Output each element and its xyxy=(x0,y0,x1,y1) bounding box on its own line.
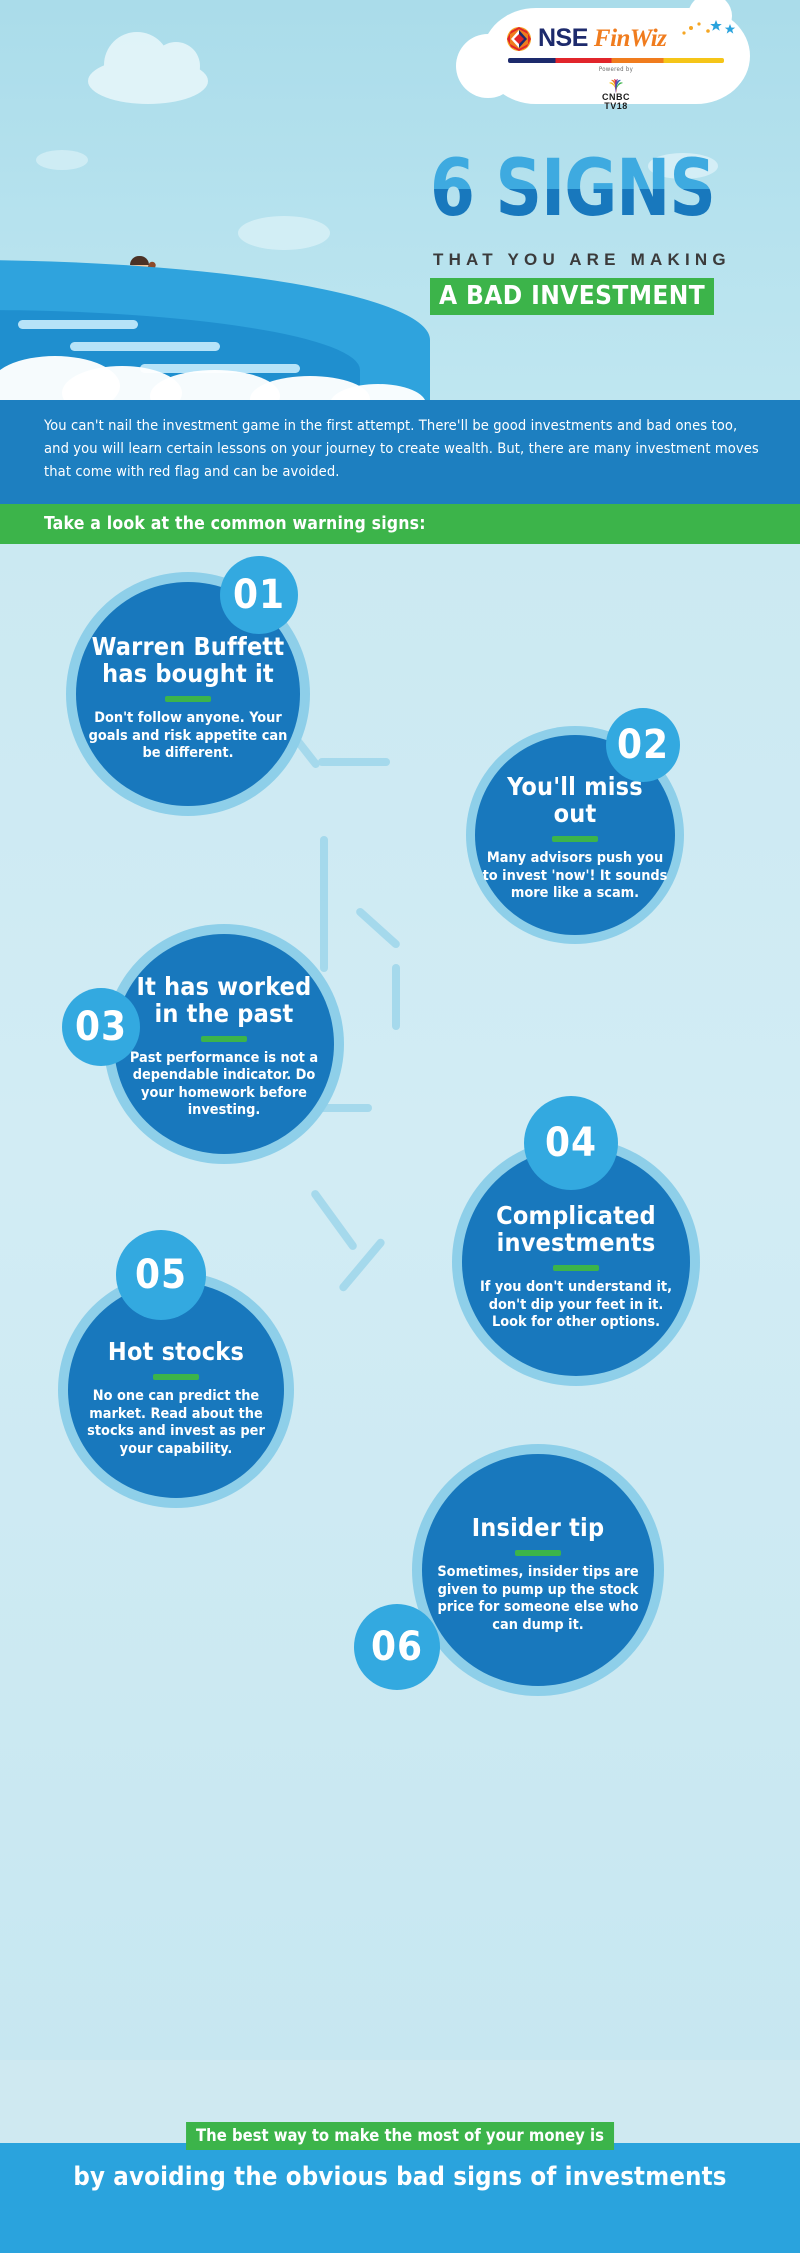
sign-content: Complicated investments If you don't und… xyxy=(472,1174,680,1360)
rower-hair xyxy=(130,256,149,265)
sign-badge-2: 02 xyxy=(606,708,680,782)
sign-body: Sometimes, insider tips are given to pum… xyxy=(434,1564,642,1634)
sign-title: Hot stocks xyxy=(108,1338,244,1365)
connector-line xyxy=(318,758,390,766)
sign-node-1[interactable]: Warren Buffett has bought it Don't follo… xyxy=(66,572,310,816)
boat-wave-illustration: ₹ xyxy=(0,170,430,400)
tv18-label: TV18 xyxy=(482,102,750,111)
sign-body: If you don't understand it, don't dip yo… xyxy=(472,1279,680,1332)
page-title: 6 SIGNS 6 SIGNS xyxy=(430,150,790,242)
logo-bubble: NSE FinWiz Powered by xyxy=(482,8,750,104)
connector-line xyxy=(392,964,400,1030)
sign-title: Insider tip xyxy=(472,1514,605,1541)
nse-flower-icon xyxy=(506,26,532,52)
intro-paragraph: You can't nail the investment game in th… xyxy=(44,414,760,483)
logo-color-rule xyxy=(508,58,724,63)
cloud-icon xyxy=(88,58,208,104)
sign-node-4[interactable]: Complicated investments If you don't und… xyxy=(452,1138,700,1386)
sign-node-3[interactable]: It has worked in the past Past performan… xyxy=(104,924,344,1164)
sign-title: Warren Buffett has bought it xyxy=(84,633,292,687)
sign-content: It has worked in the past Past performan… xyxy=(124,950,324,1142)
wave-foam-line xyxy=(70,342,220,351)
connector-line xyxy=(338,1237,387,1293)
sign-title: It has worked in the past xyxy=(124,973,324,1027)
sign-body: Don't follow anyone. Your goals and risk… xyxy=(84,710,292,763)
cnbc-tv18-logo: CNBC TV18 xyxy=(482,74,750,111)
footer-main-text: by avoiding the obvious bad signs of inv… xyxy=(0,2162,800,2192)
sign-number: 06 xyxy=(371,1627,423,1667)
logo-nse-text: NSE xyxy=(538,24,588,53)
sign-body: Many advisors push you to invest 'now'! … xyxy=(482,850,668,903)
footer-highlight: The best way to make the most of your mo… xyxy=(186,2122,614,2150)
sign-divider xyxy=(201,1036,247,1042)
sign-badge-5: 05 xyxy=(116,1230,206,1320)
sign-badge-1: 01 xyxy=(220,556,298,634)
infographic-page: ₹ xyxy=(0,0,800,2253)
sign-node-6[interactable]: Insider tip Sometimes, insider tips are … xyxy=(412,1444,664,1696)
sign-body: No one can predict the market. Read abou… xyxy=(76,1388,276,1458)
sign-badge-4: 04 xyxy=(524,1096,618,1190)
callout-band: Take a look at the common warning signs: xyxy=(0,504,800,544)
sign-number: 05 xyxy=(135,1255,187,1295)
sign-divider xyxy=(515,1550,561,1556)
logo-finwiz-text: FinWiz xyxy=(594,25,667,53)
sign-divider xyxy=(552,836,598,842)
sign-title: Complicated investments xyxy=(472,1202,680,1256)
footer-section: The best way to make the most of your mo… xyxy=(0,2060,800,2253)
sign-number: 03 xyxy=(75,1007,127,1047)
connector-line xyxy=(310,1189,359,1252)
powered-by-label: Powered by xyxy=(482,66,750,73)
sign-divider xyxy=(153,1374,199,1380)
sign-badge-3: 03 xyxy=(62,988,140,1066)
sign-number: 02 xyxy=(617,725,669,765)
hero-section: ₹ xyxy=(0,0,800,400)
sign-number: 01 xyxy=(233,575,285,615)
connector-line xyxy=(355,906,402,949)
sign-node-5[interactable]: Hot stocks No one can predict the market… xyxy=(58,1272,294,1508)
page-subtitle: THAT YOU ARE MAKING xyxy=(433,250,731,270)
sign-node-2[interactable]: You'll miss out Many advisors push you t… xyxy=(466,726,684,944)
sign-badge-6: 06 xyxy=(354,1604,440,1690)
sign-content: Insider tip Sometimes, insider tips are … xyxy=(434,1486,642,1662)
sign-content: Hot stocks No one can predict the market… xyxy=(76,1314,276,1482)
signs-section: Warren Buffett has bought it Don't follo… xyxy=(0,544,800,2060)
footer-band xyxy=(0,2143,800,2253)
peacock-icon xyxy=(603,78,629,92)
sign-number: 04 xyxy=(545,1123,597,1163)
nse-finwiz-logo: NSE FinWiz xyxy=(506,24,666,53)
sign-divider xyxy=(553,1265,599,1271)
intro-band: You can't nail the investment game in th… xyxy=(0,400,800,504)
sign-body: Past performance is not a dependable ind… xyxy=(124,1050,324,1120)
wave-foam-line xyxy=(18,320,138,329)
callout-text: Take a look at the common warning signs: xyxy=(44,514,426,534)
cloud-icon xyxy=(36,150,88,170)
stars-icon xyxy=(678,18,740,40)
page-title-highlight: A BAD INVESTMENT xyxy=(430,278,714,315)
sign-divider xyxy=(165,696,211,702)
